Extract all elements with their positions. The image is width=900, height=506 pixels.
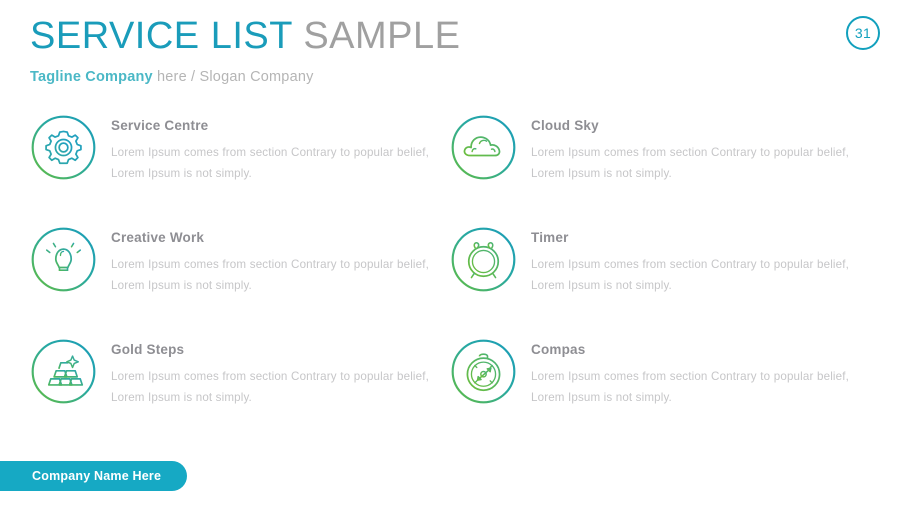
service-text: Timer Lorem Ipsum comes from section Con…: [531, 224, 849, 297]
service-item-creative-work[interactable]: Creative Work Lorem Ipsum comes from sec…: [30, 224, 450, 336]
service-item-compas[interactable]: Compas Lorem Ipsum comes from section Co…: [450, 336, 870, 448]
page-title: SERVICE LIST SAMPLE: [30, 16, 461, 58]
service-title: Timer: [531, 230, 849, 245]
page-title-main: SERVICE LIST: [30, 15, 303, 57]
gear-icon: [30, 114, 97, 181]
service-description: Lorem Ipsum comes from section Contrary …: [531, 254, 849, 297]
lightbulb-icon: [30, 226, 97, 293]
service-item-cloud-sky[interactable]: Cloud Sky Lorem Ipsum comes from section…: [450, 112, 870, 224]
cloud-icon: [450, 114, 517, 181]
tagline-slogan: here / Slogan Company: [153, 69, 314, 85]
service-item-service-centre[interactable]: Service Centre Lorem Ipsum comes from se…: [30, 112, 450, 224]
compass-icon: [450, 338, 517, 405]
page-title-sub: SAMPLE: [303, 15, 460, 57]
service-description: Lorem Ipsum comes from section Contrary …: [111, 366, 429, 409]
service-title: Compas: [531, 342, 849, 357]
service-text: Cloud Sky Lorem Ipsum comes from section…: [531, 112, 849, 185]
service-title: Gold Steps: [111, 342, 429, 357]
service-description: Lorem Ipsum comes from section Contrary …: [111, 142, 429, 185]
service-description: Lorem Ipsum comes from section Contrary …: [111, 254, 429, 297]
slide-header: SERVICE LIST SAMPLE Tagline Company here…: [30, 16, 461, 85]
services-grid: Service Centre Lorem Ipsum comes from se…: [30, 112, 870, 448]
service-title: Service Centre: [111, 118, 429, 133]
service-title: Cloud Sky: [531, 118, 849, 133]
tagline: Tagline Company here / Slogan Company: [30, 69, 461, 85]
service-item-gold-steps[interactable]: Gold Steps Lorem Ipsum comes from sectio…: [30, 336, 450, 448]
service-text: Compas Lorem Ipsum comes from section Co…: [531, 336, 849, 409]
service-text: Service Centre Lorem Ipsum comes from se…: [111, 112, 429, 185]
company-name-button[interactable]: Company Name Here: [0, 461, 187, 491]
service-text: Creative Work Lorem Ipsum comes from sec…: [111, 224, 429, 297]
service-title: Creative Work: [111, 230, 429, 245]
service-description: Lorem Ipsum comes from section Contrary …: [531, 366, 849, 409]
alarm-clock-icon: [450, 226, 517, 293]
gold-bars-icon: [30, 338, 97, 405]
page-number-label: 31: [855, 25, 871, 41]
tagline-company: Tagline Company: [30, 69, 153, 85]
service-description: Lorem Ipsum comes from section Contrary …: [531, 142, 849, 185]
service-text: Gold Steps Lorem Ipsum comes from sectio…: [111, 336, 429, 409]
page-number-badge: 31: [846, 16, 880, 50]
service-item-timer[interactable]: Timer Lorem Ipsum comes from section Con…: [450, 224, 870, 336]
